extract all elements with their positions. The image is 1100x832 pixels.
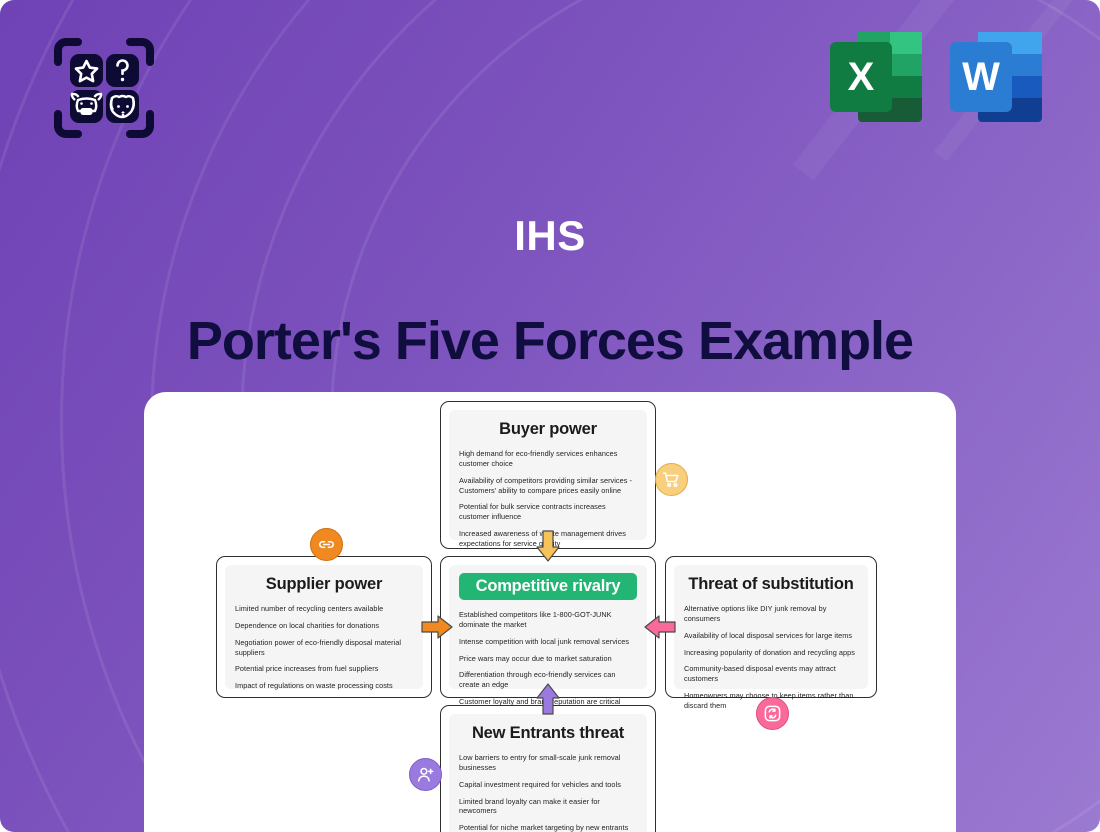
word-icon[interactable]: W — [948, 30, 1044, 124]
force-point: High demand for eco-friendly services en… — [459, 449, 637, 469]
force-box-new-entrants-threat[interactable]: New Entrants threat Low barriers to entr… — [440, 705, 656, 832]
page-title: Porter's Five Forces Example — [0, 310, 1100, 372]
force-points-supplier-power: Limited number of recycling centers avai… — [235, 604, 413, 691]
arrow-entrants-to-rivalry — [535, 683, 561, 715]
force-point: Community-based disposal events may attr… — [684, 664, 858, 684]
force-point: Availability of local disposal services … — [684, 631, 858, 641]
svg-text:X: X — [848, 55, 875, 99]
force-points-threat-of-substitution: Alternative options like DIY junk remova… — [684, 604, 858, 711]
force-point: Increasing popularity of donation and re… — [684, 648, 858, 658]
badge-buyer-power[interactable] — [655, 463, 688, 496]
force-point: Impact of regulations on waste processin… — [235, 681, 413, 691]
diagram-card: Buyer power High demand for eco-friendly… — [144, 392, 956, 832]
force-box-supplier-power[interactable]: Supplier power Limited number of recycli… — [216, 556, 432, 698]
force-point: Alternative options like DIY junk remova… — [684, 604, 858, 624]
force-point: Established competitors like 1-800-GOT-J… — [459, 610, 637, 630]
force-title-competitive-rivalry: Competitive rivalry — [459, 573, 637, 600]
force-box-competitive-rivalry[interactable]: Competitive rivalry Established competit… — [440, 556, 656, 698]
office-icons: X W — [828, 30, 1044, 124]
quad-frame-logo-icon — [48, 32, 160, 144]
force-points-new-entrants-threat: Low barriers to entry for small-scale ju… — [459, 753, 637, 832]
force-point: Availability of competitors providing si… — [459, 476, 637, 496]
force-point: Intense competition with local junk remo… — [459, 637, 637, 647]
arrow-buyer-to-rivalry — [535, 530, 561, 562]
force-title-new-entrants-threat: New Entrants threat — [459, 724, 637, 743]
force-point: Potential for bulk service contracts inc… — [459, 502, 637, 522]
badge-supplier-power[interactable] — [310, 528, 343, 561]
refresh-swap-icon — [763, 704, 782, 723]
arrow-supplier-to-rivalry — [421, 614, 453, 640]
force-point: Low barriers to entry for small-scale ju… — [459, 753, 637, 773]
force-point: Potential price increases from fuel supp… — [235, 664, 413, 674]
force-box-buyer-power[interactable]: Buyer power High demand for eco-friendly… — [440, 401, 656, 549]
badge-threat-of-substitution[interactable] — [756, 697, 789, 730]
badge-new-entrants-threat[interactable] — [409, 758, 442, 791]
add-user-icon — [416, 765, 435, 784]
force-point: Dependence on local charities for donati… — [235, 621, 413, 631]
slide-canvas: X W IHS Porter's Five Forces Example Buy… — [0, 0, 1100, 832]
force-point: Limited number of recycling centers avai… — [235, 604, 413, 614]
brand-logo[interactable] — [48, 32, 160, 144]
arrow-substitution-to-rivalry — [644, 614, 676, 640]
page-kicker: IHS — [0, 212, 1100, 260]
force-point: Potential for niche market targeting by … — [459, 823, 637, 832]
svg-text:W: W — [962, 55, 1000, 99]
force-point: Capital investment required for vehicles… — [459, 780, 637, 790]
link-chain-icon — [317, 535, 336, 554]
force-title-threat-of-substitution: Threat of substitution — [684, 575, 858, 594]
force-point: Price wars may occur due to market satur… — [459, 654, 637, 664]
porters-five-forces-diagram: Buyer power High demand for eco-friendly… — [144, 392, 956, 832]
shopping-cart-icon — [662, 470, 681, 489]
excel-icon[interactable]: X — [828, 30, 924, 124]
force-point: Negotiation power of eco-friendly dispos… — [235, 638, 413, 658]
force-point: Limited brand loyalty can make it easier… — [459, 797, 637, 817]
force-title-buyer-power: Buyer power — [459, 420, 637, 439]
force-title-supplier-power: Supplier power — [235, 575, 413, 594]
force-box-threat-of-substitution[interactable]: Threat of substitution Alternative optio… — [665, 556, 877, 698]
